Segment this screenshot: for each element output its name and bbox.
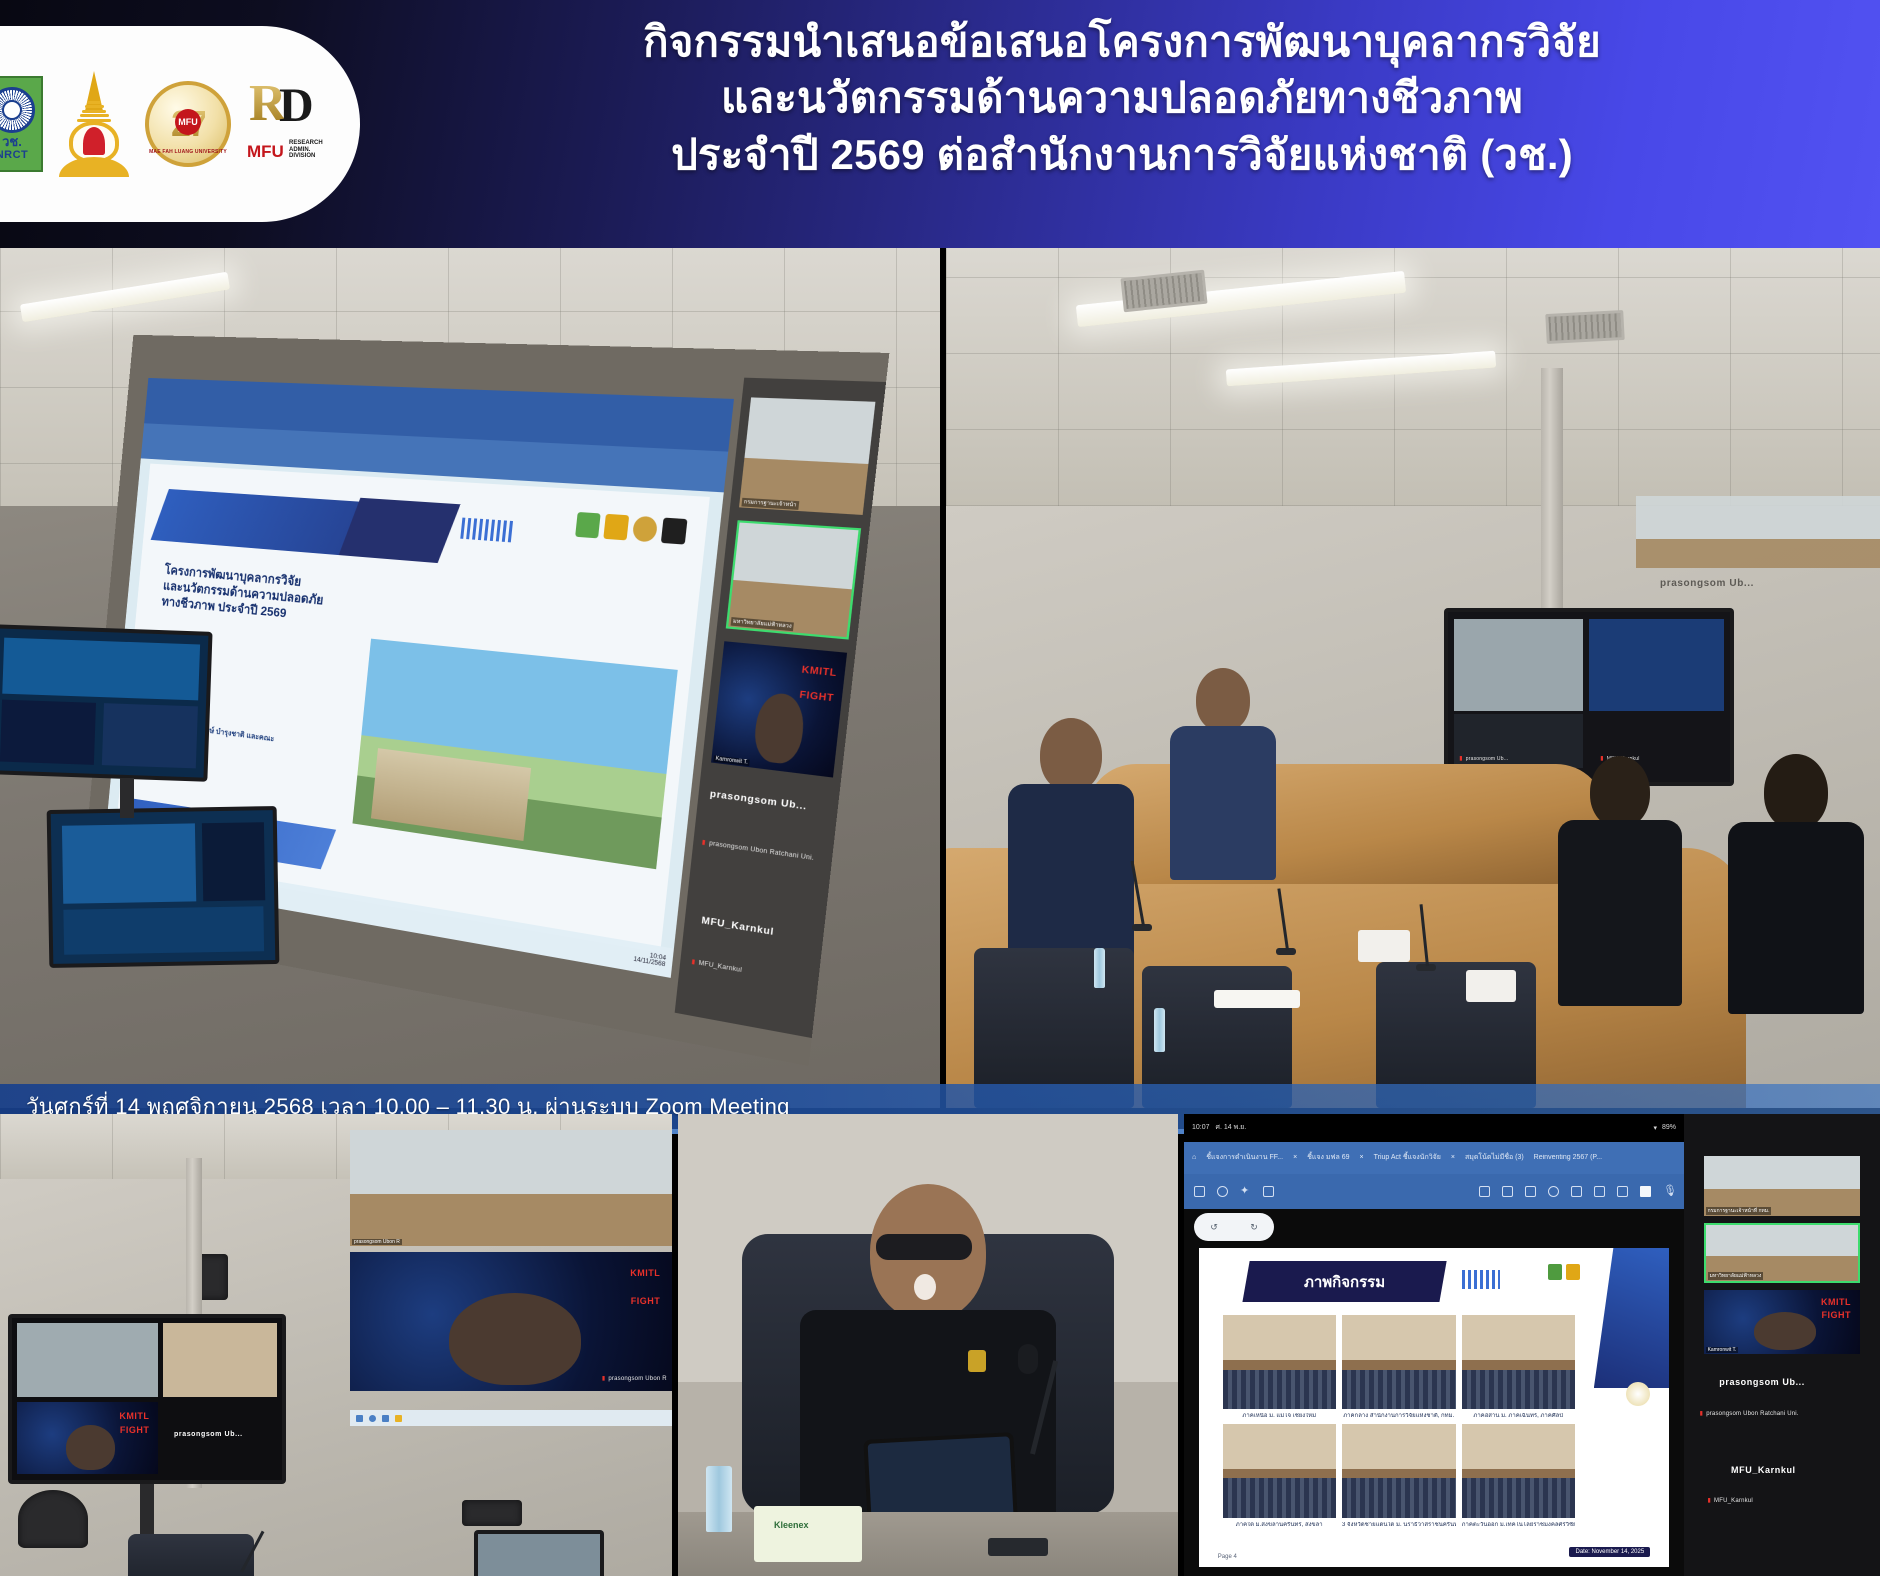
undo-redo-group[interactable]: ↺ ↻: [1194, 1213, 1274, 1241]
slide-stripe-decoration: [1462, 1270, 1500, 1289]
rd-division-text: RESEARCHADMIN.DIVISION: [289, 140, 323, 160]
slide-stripe-decoration: [460, 517, 514, 542]
logo-plate: วช. NRCT 27 MFU MAE FAH LUANG UNIVERSITY…: [0, 26, 360, 222]
notes-icon[interactable]: [1263, 1186, 1274, 1197]
attendee-head: [1196, 668, 1250, 732]
slide-emblem-logo: [603, 514, 629, 541]
title-line-3: ประจำปี 2569 ต่อสำนักงานการวิจัยแห่งชาติ…: [400, 127, 1844, 183]
ipad-toolbar[interactable]: ✦ 🎙: [1184, 1174, 1684, 1209]
slide-header-shape-dark: [339, 498, 461, 564]
speaker-earbud-icon: [914, 1274, 936, 1300]
sticker-icon[interactable]: [1617, 1186, 1628, 1197]
attendee-2: [1168, 668, 1278, 878]
slide-photo-grid: ภาคเหนือ ม. แม่โจ้ เชียงใหม่ ภาคกลาง สำน…: [1223, 1315, 1576, 1529]
participant-head: [1754, 1312, 1817, 1351]
wall-column: [1541, 368, 1563, 648]
slide-logo-row: [575, 512, 687, 545]
zoom-sidebar: กรมการฐานะเจ้าหน้าที่ กทม. มหาวิทยาลัยแม…: [1684, 1114, 1880, 1576]
search-icon[interactable]: [369, 1415, 376, 1422]
photo-bottom-left: prasongsom Ubon R prasongsom Ubon R: [0, 1114, 672, 1576]
redo-icon[interactable]: ↻: [1250, 1222, 1258, 1233]
sidebar-icon[interactable]: [1194, 1186, 1205, 1197]
projected-zoom-tile-room: prasongsom Ubon R: [350, 1130, 672, 1246]
attendee-1: [1006, 718, 1136, 958]
start-icon[interactable]: [356, 1415, 363, 1422]
attendee-head: [1764, 754, 1828, 830]
nrct-logo-thai-label: วช.: [2, 135, 22, 148]
slide-photo-5: [1342, 1424, 1456, 1518]
ipad-tab-2[interactable]: ชี้แจง มฟล 69: [1307, 1152, 1349, 1163]
attendee-body: [1558, 820, 1682, 1006]
ipad-status-bar: 10:07 ศ. 14 พ.ย. ▾ 89%: [1184, 1114, 1684, 1142]
ipad-tab-1[interactable]: ชี้แจงการดำเนินงาน FF...: [1206, 1152, 1283, 1163]
anniversary-subtitle: MAE FAH LUANG UNIVERSITY: [149, 149, 227, 155]
speaker-glasses-icon: [876, 1234, 972, 1260]
emblem-tiers-icon: [77, 99, 111, 123]
photo-bottom-middle: Kleenex: [678, 1114, 1178, 1576]
wall-projection-label: prasongsom Ub...: [1660, 578, 1754, 589]
page-title: กิจกรรมนำเสนอข้อเสนอโครงการพัฒนาบุคลากรว…: [400, 14, 1844, 183]
desk-surface: [678, 1512, 1178, 1576]
slide-gold-logo: [1566, 1264, 1580, 1280]
highlighter-icon[interactable]: [1640, 1186, 1651, 1197]
photo-top-left: โครงการพัฒนาบุคลากรวิจัย และนวัตกรรมด้าน…: [0, 248, 940, 1108]
zoom-tile-label: Kamronwit T.: [1706, 1347, 1739, 1353]
room-scene: โครงการพัฒนาบุคลากรวิจัย และนวัตกรรมด้าน…: [0, 248, 940, 1108]
microphone-icon[interactable]: 🎙: [1663, 1186, 1674, 1197]
zoom-sidebar-subname-2: MFU_Karnkul: [1708, 1497, 1753, 1504]
ipad-status-date: ศ. 14 พ.ย.: [1216, 1122, 1247, 1133]
monitor-screen: [51, 810, 276, 964]
tissue-box: [754, 1506, 862, 1562]
attendee-body: [1008, 784, 1134, 960]
zoom-tile-3[interactable]: Kamronwit T.: [711, 641, 847, 777]
photo-bottom-right: 10:07 ศ. 14 พ.ย. ▾ 89% ⌂ ชี้แจงการดำเนิน…: [1184, 1114, 1880, 1576]
wall-projection: [1636, 496, 1880, 568]
slide-campus-photo: [353, 639, 678, 869]
mfu-27th-anniversary-logo: 27 MFU MAE FAH LUANG UNIVERSITY: [145, 81, 231, 167]
participant-head: [449, 1293, 581, 1385]
ceiling-vent-icon-2: [1545, 310, 1624, 344]
slide-photo-caption-3: ภาคอีสาน ม. ภาคเฉินทร์, ภาคศิลป์: [1462, 1413, 1576, 1420]
taskbar-clock[interactable]: 10:04 14/11/2568: [633, 950, 666, 969]
ipad-tab-5[interactable]: Reinventing 2567 (P...: [1534, 1154, 1602, 1161]
attendee-4: [1726, 754, 1866, 1014]
ipad-status-right: ▾ 89%: [1653, 1124, 1676, 1132]
slide-photo-6: [1462, 1424, 1576, 1518]
room-scene: prasongsom Ubon R prasongsom Ubon R: [0, 1114, 672, 1576]
slide-photo-caption-4: ภาคใต้ ม.สงขลานครินทร์, สงขลา: [1223, 1522, 1337, 1529]
tv-stand-pole: [140, 1484, 154, 1540]
ipad-tab-4[interactable]: สมุดโน้ตไม่มีชื่อ (3): [1465, 1152, 1524, 1163]
lapel-pin-icon: [968, 1350, 986, 1372]
projected-zoom-tile-kmitl: prasongsom Ubon R: [350, 1252, 672, 1391]
slide-date-badge: Date: November 14, 2025: [1569, 1547, 1650, 1557]
pen-tool-icon[interactable]: [1502, 1186, 1513, 1197]
slide-corner-wedge: [1594, 1248, 1669, 1388]
zoom-sidebar-tile-3[interactable]: Kamronwit T.: [1704, 1290, 1861, 1355]
attendee-3: [1556, 756, 1684, 1006]
attendee-body: [1728, 822, 1864, 1014]
slide-mfu-watermark: [1626, 1382, 1650, 1406]
zoom-tile-label: มหาวิทยาลัยแม่ฟ้าหลวง: [1708, 1272, 1764, 1280]
microphone-head-icon: [1018, 1344, 1038, 1374]
slide-nrct-logo: [575, 512, 601, 538]
ipad-tab-bar[interactable]: ⌂ ชี้แจงการดำเนินงาน FF... × ชี้แจง มฟล …: [1184, 1142, 1684, 1174]
zoom-sidebar-subname-1: prasongsom Ubon Ratchani Uni.: [1700, 1410, 1799, 1417]
wifi-icon: ▾: [1653, 1124, 1657, 1132]
zoom-name-primary: prasongsom Ub...: [709, 788, 807, 811]
monitor-screen: [478, 1534, 600, 1576]
tab-close-icon-3[interactable]: ×: [1451, 1154, 1455, 1161]
wall-tv: prasongsom Ub...: [8, 1314, 286, 1484]
rd-monogram-d: D: [279, 82, 314, 130]
nrct-logo-eng-label: NRCT: [0, 150, 28, 161]
photo-grid: โครงการพัฒนาบุคลากรวิจัย และนวัตกรรมด้าน…: [0, 248, 1880, 1576]
zoom-tile-label: prasongsom Ubon R: [352, 1239, 402, 1245]
nrct-logo: วช. NRCT: [0, 76, 43, 172]
slide-photo-1: [1223, 1315, 1337, 1409]
slide-photo-caption-5: 3 จังหวัดชายแดนใต้ ม. นราธิวาสราชนครินทร…: [1342, 1522, 1456, 1529]
zoom-tile-video: [739, 397, 875, 514]
slide-photo-4: [1223, 1424, 1337, 1518]
undo-icon[interactable]: ↺: [1210, 1222, 1218, 1233]
zoom-tile-video: [350, 1130, 672, 1246]
tab-close-icon[interactable]: ×: [1293, 1154, 1297, 1161]
tv-participant-label: prasongsom Ub...: [174, 1431, 243, 1438]
chair: [128, 1534, 254, 1576]
attendee-head: [1040, 718, 1102, 792]
tab-close-icon-2[interactable]: ×: [1360, 1154, 1364, 1161]
presentation-slide: ภาพกิจกรรม ภาคเหนือ ม. แม่โจ้ เชียงใหม่ …: [1199, 1248, 1669, 1567]
desk-monitor: [474, 1530, 604, 1576]
text-box-icon[interactable]: [1525, 1186, 1536, 1197]
ipad-tab-3[interactable]: Triup Act ชี้แจงนักวิจัย: [1374, 1152, 1441, 1163]
room-scene: Kleenex: [678, 1114, 1178, 1576]
microphone-base: [988, 1538, 1048, 1556]
mfu-royal-emblem-logo: [57, 69, 131, 179]
attendee-body: [1170, 726, 1276, 880]
side-monitor-lower: [47, 806, 280, 968]
anniversary-mfu-badge: MFU: [175, 109, 201, 135]
zoom-name-secondary: prasongsom Ubon Ratchani Uni.: [702, 838, 815, 861]
home-icon[interactable]: ⌂: [1192, 1154, 1196, 1161]
tv-label-1: prasongsom Ub...: [1459, 755, 1508, 762]
app-icon[interactable]: [382, 1415, 389, 1422]
zoom-sidebar-tile-1[interactable]: กรมการฐานะเจ้าหน้าที่ กทม.: [1704, 1156, 1861, 1216]
slide-27-logo: [632, 516, 658, 543]
water-bottle-1: [1094, 948, 1105, 988]
zoom-sidebar-tile-2[interactable]: มหาวิทยาลัยแม่ฟ้าหลวง: [1704, 1223, 1861, 1283]
water-bottle: [706, 1466, 732, 1532]
slide-photo-caption-1: ภาคเหนือ ม. แม่โจ้ เชียงใหม่: [1223, 1413, 1337, 1420]
document-stack: [1214, 990, 1300, 1008]
mfu-research-division-logo: R D MFU RESEARCHADMIN.DIVISION: [245, 76, 331, 172]
shape-icon[interactable]: [1548, 1186, 1559, 1197]
header-banner: วช. NRCT 27 MFU MAE FAH LUANG UNIVERSITY…: [0, 0, 1880, 248]
tissue-brand-label: Kleenex: [774, 1520, 809, 1530]
slide-flag-row: [1548, 1264, 1580, 1280]
ceiling: [946, 248, 1880, 506]
emblem-wings-icon: [59, 157, 129, 177]
scissors-icon[interactable]: [1594, 1186, 1605, 1197]
zoom-sidebar-name-2: MFU_Karnkul: [1731, 1465, 1796, 1475]
zoom-name-primary-2: MFU_Karnkul: [701, 915, 775, 937]
slide-photo-3: [1462, 1315, 1576, 1409]
emblem-flame-icon: [83, 127, 105, 155]
title-line-1: กิจกรรมนำเสนอข้อเสนอโครงการพัฒนาบุคลากรว…: [400, 14, 1844, 70]
webcam-icon-2: [462, 1500, 522, 1526]
search-icon[interactable]: [1217, 1186, 1228, 1197]
slide-green-logo: [1548, 1264, 1562, 1280]
slide-photo-caption-6: ภาคตะวันออก ม.เทคโนโลยีราชมงคลศรีวิชัย, …: [1462, 1522, 1576, 1529]
webcam-icon-1: [18, 1490, 88, 1548]
image-icon[interactable]: [1571, 1186, 1582, 1197]
water-bottle-2: [1154, 1008, 1165, 1052]
monitor-stand: [120, 778, 134, 818]
projected-participant-label: prasongsom Ubon R: [602, 1375, 667, 1382]
slide-photo-caption-2: ภาคกลาง สำนักงานการวิจัยแห่งชาติ, กทม.: [1342, 1413, 1456, 1420]
attendee-head: [1590, 756, 1650, 828]
folder-icon[interactable]: [395, 1415, 402, 1422]
projected-taskbar[interactable]: [350, 1410, 672, 1426]
slide-heading-text: ภาพกิจกรรม: [1304, 1269, 1385, 1293]
zoom-sidebar-name-1: prasongsom Ub...: [1719, 1377, 1805, 1387]
ipad-presentation[interactable]: 10:07 ศ. 14 พ.ย. ▾ 89% ⌂ ชี้แจงการดำเนิน…: [1184, 1114, 1684, 1576]
slide-photo-2: [1342, 1315, 1456, 1409]
nrct-wheel-icon: [0, 87, 35, 133]
room-scene: prasongsom Ub... prasongsom Ub... MFU_Ka…: [946, 248, 1880, 1108]
tv-screen: prasongsom Ub...: [12, 1318, 282, 1480]
zoom-tile-label: กรมการฐานะเจ้าหน้าที่ กทม.: [1706, 1207, 1772, 1215]
conference-table-far: [1086, 764, 1606, 884]
rd-mfu-label: MFU: [247, 142, 284, 162]
zoom-tile-1[interactable]: กรมการฐานะเจ้าหน้า: [739, 397, 875, 514]
zoom-name-secondary-2: MFU_Karnkul: [691, 958, 742, 974]
title-line-2: และนวัตกรรมด้านความปลอดภัยทางชีวภาพ: [400, 70, 1844, 126]
tissue-box-2: [1466, 970, 1516, 1002]
monitor-screen: [0, 628, 208, 777]
tissue-box-1: [1358, 930, 1410, 962]
slide-title: โครงการพัฒนาบุคลากรวิจัย และนวัตกรรมด้าน…: [161, 561, 585, 650]
participant-head: [66, 1425, 115, 1470]
slide-heading-badge: ภาพกิจกรรม: [1242, 1261, 1447, 1302]
slide-rd-logo: [661, 517, 688, 544]
select-icon[interactable]: [1479, 1186, 1490, 1197]
photo-top-right: prasongsom Ub... prasongsom Ub... MFU_Ka…: [946, 248, 1880, 1108]
side-monitor-upper: [0, 624, 213, 782]
ipad-status-time: 10:07: [1192, 1124, 1210, 1131]
battery-label: 89%: [1662, 1124, 1676, 1131]
zoom-tile-2[interactable]: มหาวิทยาลัยแม่ฟ้าหลวง: [725, 520, 860, 640]
slide-page-label: Page 4: [1218, 1554, 1237, 1560]
magic-wand-icon[interactable]: ✦: [1240, 1186, 1251, 1197]
projection-screen: prasongsom Ubon R prasongsom Ubon R: [350, 1124, 672, 1414]
